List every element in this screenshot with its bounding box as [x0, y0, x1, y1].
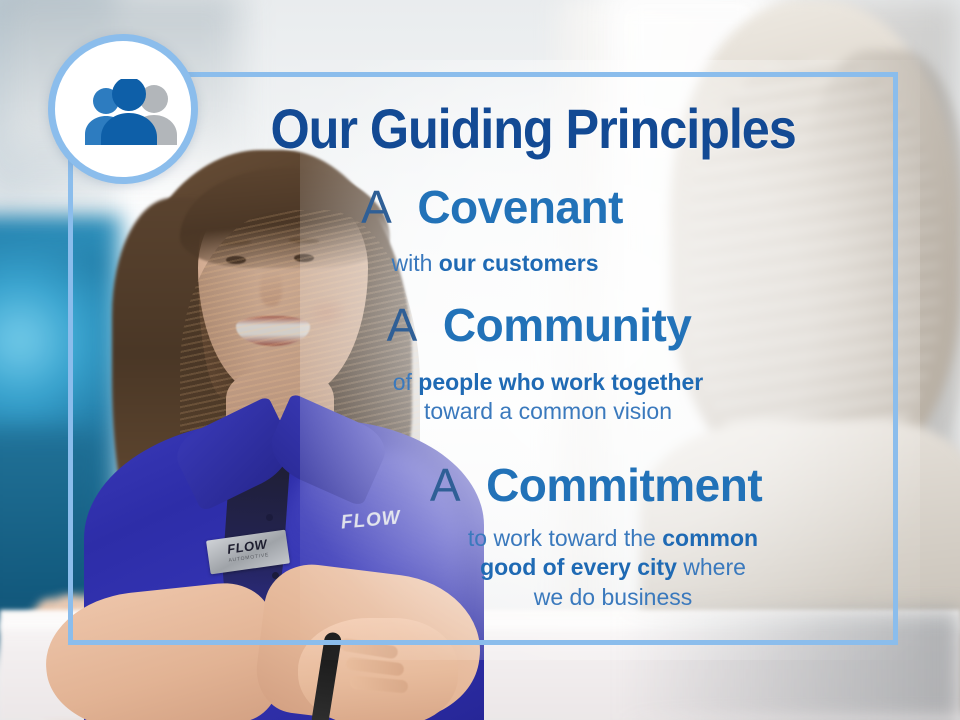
poster-canvas: FLOW FLOW AUTOMOTIVE	[0, 0, 960, 720]
customer-figure	[650, 0, 960, 670]
shirt-button	[266, 514, 273, 521]
desk-shadow	[620, 610, 960, 720]
customer-hair-shadow	[800, 50, 960, 480]
associate-figure: FLOW FLOW AUTOMOTIVE	[30, 120, 500, 720]
associate-arm-left	[39, 578, 282, 720]
people-group-icon-glyph	[81, 79, 179, 153]
people-group-icon	[48, 34, 198, 184]
